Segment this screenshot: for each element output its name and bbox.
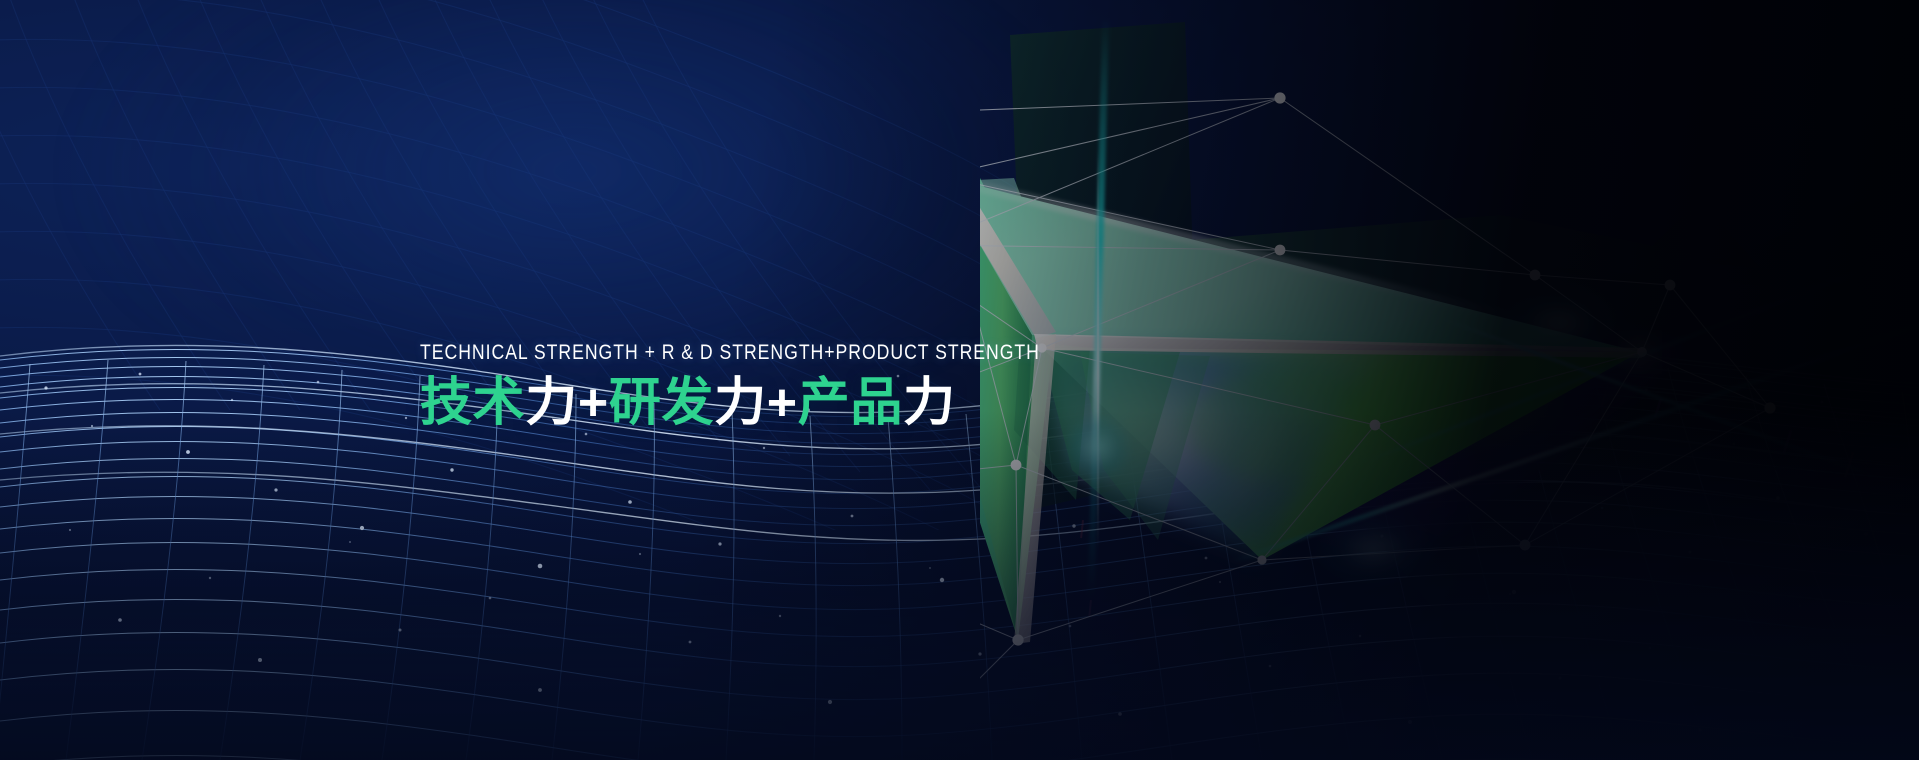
title-segment-yanfa: 研发 xyxy=(609,373,714,433)
headline-block: TECHNICAL STRENGTH + R & D STRENGTH+PROD… xyxy=(420,342,1040,431)
eyebrow-english-tagline: TECHNICAL STRENGTH + R & D STRENGTH+PROD… xyxy=(420,342,941,363)
title-plus-1: + xyxy=(578,374,609,432)
bottom-fade-overlay xyxy=(0,410,1919,760)
title-segment-jishu: 技术 xyxy=(420,373,525,433)
page-title: 技术力+研发力+产品力 xyxy=(420,375,1040,431)
title-segment-li-3: 力 xyxy=(903,373,956,433)
title-segment-li-1: 力 xyxy=(525,373,578,433)
title-segment-li-2: 力 xyxy=(714,373,767,433)
title-segment-chanpin: 产品 xyxy=(798,373,903,433)
hero-banner: TECHNICAL STRENGTH + R & D STRENGTH+PROD… xyxy=(0,0,1919,760)
title-plus-2: + xyxy=(767,374,798,432)
